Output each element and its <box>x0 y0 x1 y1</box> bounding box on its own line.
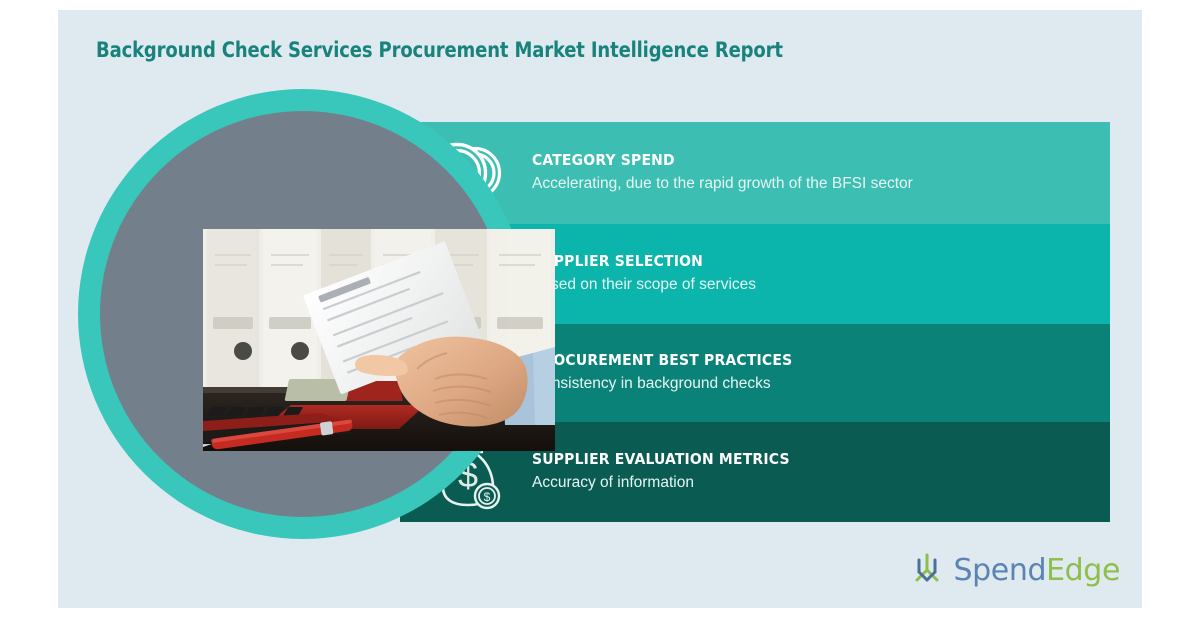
list-item-text: SUPPLIER SELECTION Based on their scope … <box>532 252 774 295</box>
spendedge-wordmark: SpendEdge <box>953 556 1120 586</box>
logo-text-spend: Spend <box>953 553 1046 588</box>
page-title: Background Check Services Procurement Ma… <box>96 38 933 63</box>
list-item-title: SUPPLIER EVALUATION METRICS <box>532 450 790 469</box>
list-item-title: PROCUREMENT BEST PRACTICES <box>532 351 792 370</box>
list-item-text: PROCUREMENT BEST PRACTICES Consistency i… <box>532 351 810 394</box>
logo-text-e: E <box>1046 553 1065 588</box>
list-item-description: Based on their scope of services <box>532 274 756 296</box>
list-item-description: Accelerating, due to the rapid growth of… <box>532 173 913 195</box>
list-item-description: Consistency in background checks <box>532 373 792 395</box>
hand-pointing-at-document-photo <box>203 229 555 451</box>
infographic-canvas: Background Check Services Procurement Ma… <box>58 10 1142 608</box>
list-item-title: CATEGORY SPEND <box>532 151 913 170</box>
logo-text-dge: dge <box>1065 553 1120 588</box>
spendedge-logo: SpendEdge <box>910 551 1120 590</box>
list-item-text: SUPPLIER EVALUATION METRICS Accuracy of … <box>532 450 808 493</box>
spendedge-trident-logo-icon <box>910 551 944 590</box>
infographic-root: Background Check Services Procurement Ma… <box>0 0 1200 627</box>
list-item-text: CATEGORY SPEND Accelerating, due to the … <box>532 151 931 194</box>
list-item-description: Accuracy of information <box>532 472 790 494</box>
list-item-title: SUPPLIER SELECTION <box>532 252 756 271</box>
feature-circle <box>78 89 528 539</box>
